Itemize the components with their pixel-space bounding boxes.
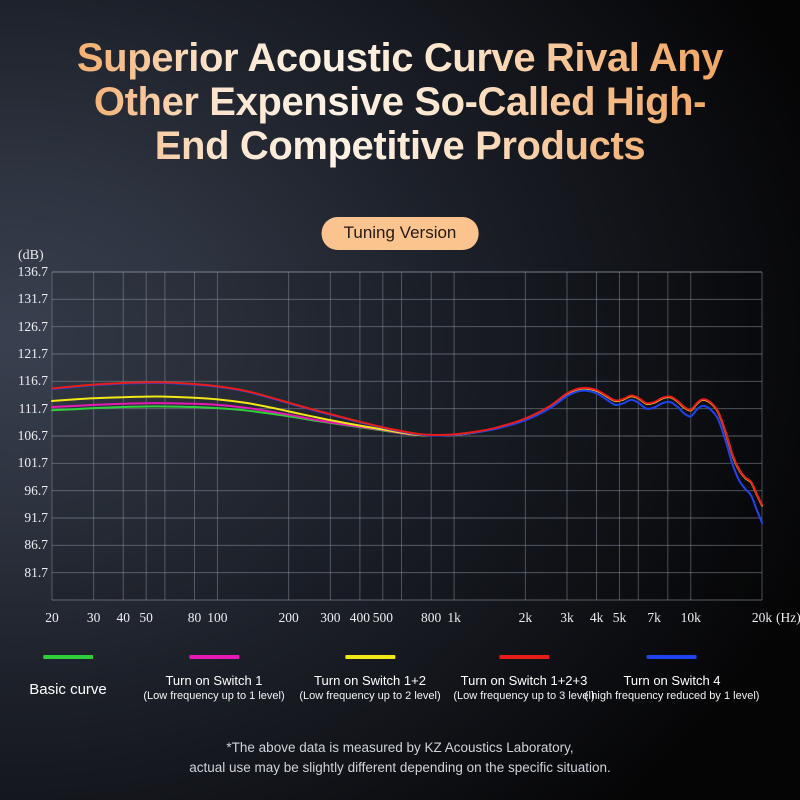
legend-label: Turn on Switch 4 — [585, 673, 760, 689]
x-tick-label: 5k — [613, 610, 627, 626]
legend-color-swatch — [43, 655, 93, 659]
x-tick-label: 4k — [590, 610, 604, 626]
x-axis-unit-label: (Hz) — [776, 610, 800, 626]
legend-label: Turn on Switch 1 — [143, 673, 284, 689]
chart-legend: Basic curveTurn on Switch 1(Low frequenc… — [0, 655, 800, 725]
x-tick-label: 30 — [87, 610, 101, 626]
legend-item[interactable]: Turn on Switch 1+2+3(Low frequency up to… — [453, 655, 594, 704]
x-tick-label: 50 — [139, 610, 153, 626]
legend-sublabel: ( high frequency reduced by 1 level) — [585, 689, 760, 703]
x-tick-label: 800 — [421, 610, 441, 626]
footnote-line-1: *The above data is measured by KZ Acoust… — [0, 738, 800, 758]
x-tick-label: 10k — [681, 610, 701, 626]
frequency-response-chart: (dB) 136.7131.7126.7121.7116.7111.7106.7… — [0, 248, 800, 638]
legend-color-swatch — [345, 655, 395, 659]
poster-root: Superior Acoustic Curve Rival Any Other … — [0, 0, 800, 800]
legend-color-swatch — [647, 655, 697, 659]
legend-sublabel: (Low frequency up to 2 level) — [299, 689, 440, 703]
x-tick-label: 2k — [519, 610, 533, 626]
legend-label: Turn on Switch 1+2+3 — [453, 673, 594, 689]
x-tick-label: 300 — [320, 610, 340, 626]
x-tick-label: 20 — [45, 610, 59, 626]
legend-item[interactable]: Turn on Switch 1(Low frequency up to 1 l… — [143, 655, 284, 704]
footnote: *The above data is measured by KZ Acoust… — [0, 738, 800, 779]
tuning-version-badge: Tuning Version — [322, 217, 479, 250]
title-line-2: Other Expensive So-Called High- — [0, 80, 800, 124]
legend-color-swatch — [499, 655, 549, 659]
x-tick-label: 500 — [373, 610, 393, 626]
x-tick-label: 1k — [447, 610, 461, 626]
legend-color-swatch — [189, 655, 239, 659]
footnote-line-2: actual use may be slightly different dep… — [0, 758, 800, 778]
legend-label: Basic curve — [29, 681, 107, 700]
x-tick-label: 200 — [279, 610, 299, 626]
legend-item[interactable]: Basic curve — [29, 655, 107, 700]
legend-sublabel: (Low frequency up to 1 level) — [143, 689, 284, 703]
legend-label: Turn on Switch 1+2 — [299, 673, 440, 689]
x-tick-label: 40 — [116, 610, 130, 626]
x-tick-label: 400 — [350, 610, 370, 626]
legend-item[interactable]: Turn on Switch 4( high frequency reduced… — [585, 655, 760, 704]
legend-item[interactable]: Turn on Switch 1+2(Low frequency up to 2… — [299, 655, 440, 704]
page-title: Superior Acoustic Curve Rival Any Other … — [0, 36, 800, 168]
legend-sublabel: (Low frequency up to 3 level) — [453, 689, 594, 703]
x-tick-label: 80 — [188, 610, 202, 626]
x-tick-label: 3k — [560, 610, 574, 626]
x-tick-label: 7k — [647, 610, 661, 626]
x-axis-ticks: 20304050801002003004005008001k2k3k4k5k7k… — [0, 248, 800, 638]
title-line-1: Superior Acoustic Curve Rival Any — [0, 36, 800, 80]
x-tick-label: 100 — [207, 610, 227, 626]
x-tick-label: 20k — [752, 610, 772, 626]
title-line-3: End Competitive Products — [0, 124, 800, 168]
